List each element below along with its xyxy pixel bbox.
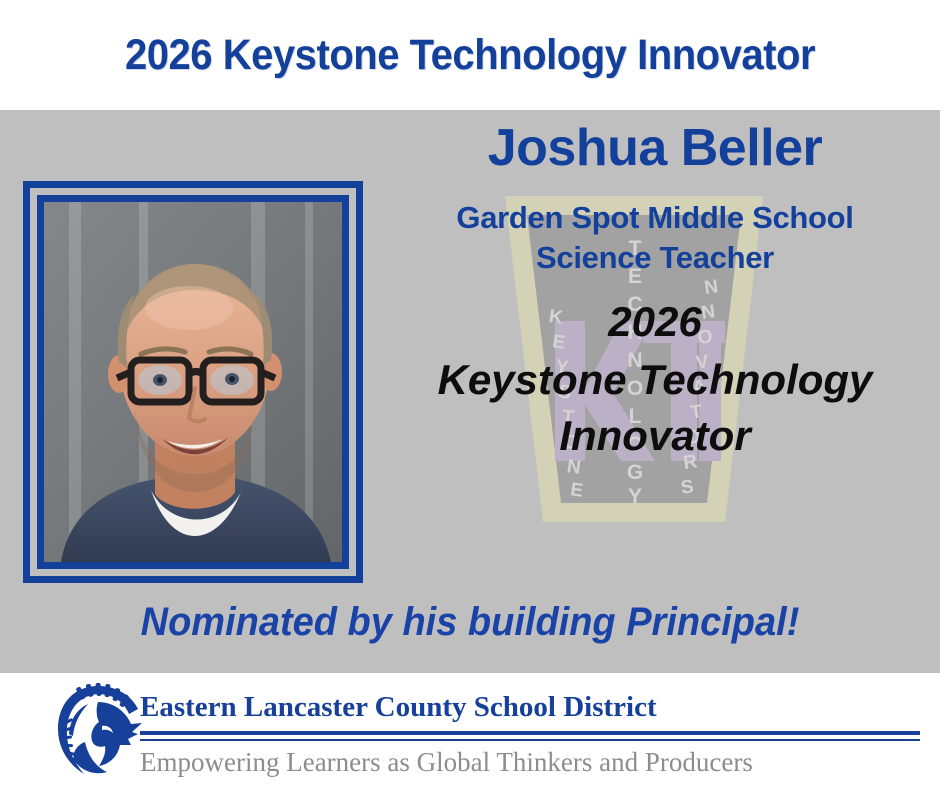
- district-name: Eastern Lancaster County School District: [140, 690, 930, 724]
- award-title-line-1: Keystone Technology: [380, 352, 930, 408]
- award-year: 2026: [380, 296, 930, 348]
- award-poster: 2026 Keystone Technology Innovator K E Y…: [0, 0, 940, 788]
- honoree-details: Joshua Beller Garden Spot Middle School …: [380, 120, 930, 464]
- district-tagline: Empowering Learners as Global Thinkers a…: [140, 746, 930, 778]
- spartan-helmet-icon: [52, 682, 144, 780]
- award-title-line-2: Innovator: [380, 408, 930, 464]
- poster-header: 2026 Keystone Technology Innovator: [0, 0, 940, 110]
- honoree-photo-frame: [23, 181, 363, 583]
- honoree-photo: [37, 195, 349, 569]
- footer-rule-thin: [140, 739, 920, 741]
- honoree-school: Garden Spot Middle School: [380, 198, 930, 238]
- footer-text-block: Eastern Lancaster County School District…: [140, 690, 930, 778]
- footer-rule-thick: [140, 731, 920, 735]
- nomination-statement: Nominated by his building Principal!: [24, 600, 917, 645]
- page-title: 2026 Keystone Technology Innovator: [125, 31, 815, 80]
- honoree-role: Science Teacher: [380, 238, 930, 278]
- honoree-name: Joshua Beller: [380, 120, 930, 176]
